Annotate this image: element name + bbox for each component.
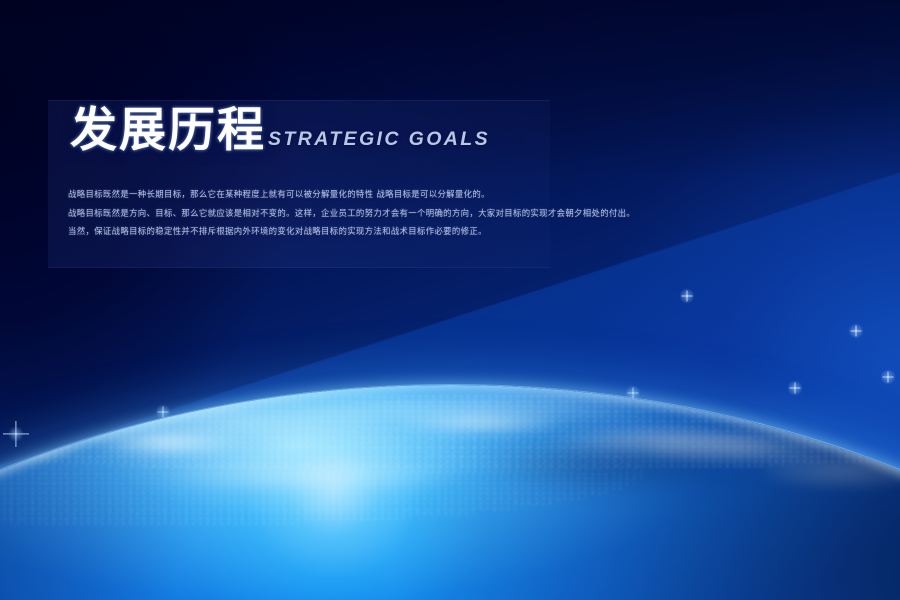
headline-panel: 发展历程 STRATEGIC GOALS 战略目标既然是一种长期目标，那么它在某… — [48, 100, 550, 268]
body-copy: 战略目标既然是一种长期目标，那么它在某种程度上就有可以被分解量化的特性 战略目标… — [68, 185, 538, 241]
body-line: 当然，保证战略目标的稳定性并不排斥根据内外环境的变化对战略目标的实现方法和战术目… — [68, 222, 538, 241]
page-title: 发展历程 — [70, 107, 266, 154]
page-subtitle: STRATEGIC GOALS — [268, 128, 490, 154]
earth-globe — [0, 385, 900, 600]
body-line: 战略目标既然是方向、目标、那么它就应该是相对不变的。这样，企业员工的努力才会有一… — [68, 204, 538, 223]
headline-row: 发展历程 STRATEGIC GOALS — [70, 107, 490, 154]
body-line: 战略目标既然是一种长期目标，那么它在某种程度上就有可以被分解量化的特性 战略目标… — [68, 185, 538, 204]
strategic-goals-banner: 发展历程 STRATEGIC GOALS 战略目标既然是一种长期目标，那么它在某… — [0, 0, 900, 600]
